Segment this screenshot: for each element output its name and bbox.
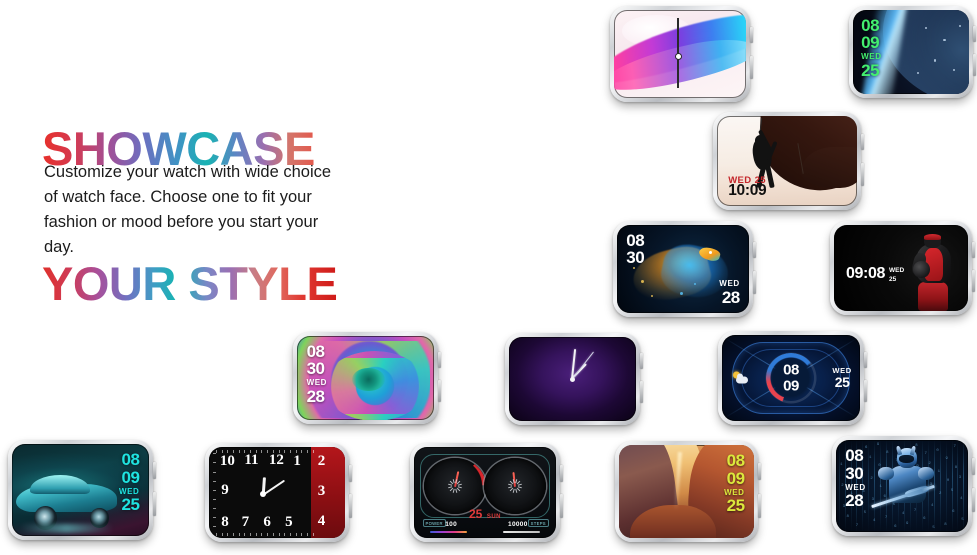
watch-dual-gauge[interactable]: 25 SUN POWER STEPS 100 10000 [410, 443, 560, 542]
star [917, 72, 919, 74]
digital-rain-glyph: 1 [869, 456, 871, 460]
minute-tick [222, 533, 223, 536]
digital-rain-column [963, 440, 964, 532]
minute-tick [279, 533, 280, 536]
side-button-top[interactable] [349, 465, 352, 482]
warrior-shoulder [878, 467, 894, 480]
minutes-value: 30 [845, 465, 865, 482]
minutes-value: 30 [626, 249, 644, 266]
clock-numeral: 8 [221, 514, 229, 531]
digital-rain-column [839, 440, 840, 532]
date-value: 25 [861, 62, 881, 79]
minute-tick [256, 533, 257, 536]
time-date-complication: 08 09 WED 25 [119, 451, 139, 513]
time-date-complication: 09:08 WED 25 [846, 265, 904, 283]
date-value: 25 [724, 497, 744, 514]
digital-rain-glyph: 5 [893, 503, 895, 507]
watch-blue-tech-hud[interactable]: 08 09 WED 25 [718, 331, 864, 425]
hours-value: 08 [724, 452, 744, 469]
hours-value: 08 [783, 362, 799, 378]
red-side-panel [311, 447, 345, 538]
minute-tick [284, 533, 285, 536]
watch-case: 08 30 WED 28 [293, 332, 438, 424]
clock-center-dot [570, 377, 575, 382]
warrior-shoulder [918, 467, 934, 480]
clock-numeral: 10 [220, 453, 235, 470]
side-button-bottom[interactable] [560, 494, 563, 518]
rose-core [352, 368, 385, 392]
clock-numeral-red: 3 [318, 483, 326, 500]
side-button-bottom[interactable] [153, 492, 156, 516]
digital-rain-column [886, 440, 887, 532]
digital-rain-glyph: 6 [894, 525, 896, 529]
watch-screen: 7418529630741852963074185296307418529630… [836, 440, 968, 532]
watch-screen: 09:08 WED 25 [834, 225, 968, 311]
watch-antelope-canyon[interactable]: 08 09 WED 25 [615, 441, 758, 542]
watch-screen: WED 25 10:09 [717, 116, 857, 206]
watch-screen: 08 09 WED 25 [722, 335, 860, 421]
minute-tick [213, 462, 216, 463]
minute-tick [227, 450, 228, 453]
clock-numeral: 7 [242, 514, 250, 531]
date-value: 28 [845, 492, 865, 509]
minute-tick [244, 450, 245, 453]
promo-canvas: SHOWCASE YOUR STYLE Customize your watch… [0, 0, 977, 555]
minute-tick [222, 450, 223, 453]
digital-rain-glyph: 0 [947, 479, 949, 483]
side-button-top[interactable] [861, 134, 864, 151]
minutes-value: 09 [783, 378, 799, 394]
digital-rain-glyph: 0 [936, 449, 938, 453]
watch-boxer-athlete[interactable]: 09:08 WED 25 [830, 221, 972, 315]
clock-numeral: 12 [269, 452, 284, 469]
side-button-top[interactable] [438, 352, 441, 368]
hours-value: 08 [626, 232, 644, 249]
date-complication: WED 25 [832, 365, 851, 391]
date-complication: WED 28 [719, 278, 739, 305]
watch-earth-space[interactable]: 08 09 WED 25 [849, 6, 973, 98]
watch-case [610, 6, 750, 102]
minute-tick [213, 517, 216, 518]
clock-numeral-red: 2 [318, 453, 326, 470]
car-reflection [20, 524, 113, 533]
side-button-bottom[interactable] [972, 488, 975, 512]
side-button-bottom[interactable] [753, 271, 756, 294]
day-value: WED [889, 267, 904, 275]
watch-screen: 08 09 WED 25 [12, 444, 149, 536]
side-button-top[interactable] [972, 242, 975, 258]
side-button-bottom[interactable] [349, 494, 352, 518]
watch-matrix-warrior[interactable]: 7418529630741852963074185296307418529630… [832, 436, 972, 536]
athlete-legs [918, 282, 947, 311]
time-value: 10:09 [728, 182, 766, 200]
hours-value: 08 [845, 447, 865, 464]
digital-rain-glyph: 1 [840, 463, 842, 467]
minutes-value: 09 [724, 470, 744, 487]
date-value: 25 [832, 375, 851, 390]
digital-rain-glyph: 8 [847, 515, 849, 519]
watch-case: 08 09 WED 25 [8, 440, 153, 540]
hours-value: 08 [307, 343, 327, 360]
watch-rainbow-rose[interactable]: 08 30 WED 28 [293, 332, 438, 424]
minute-tick [213, 453, 216, 454]
digital-rain-column [880, 440, 881, 532]
side-button-bottom[interactable] [973, 54, 976, 76]
clock-numeral: 6 [263, 514, 271, 531]
right-value: 10000 [508, 521, 528, 528]
minute-tick [244, 533, 245, 536]
side-button-top[interactable] [864, 352, 867, 368]
clock-tick [572, 379, 574, 421]
time-date-complication: 08 30 WED 28 [307, 343, 327, 405]
watch-screen: 101112198765234 [209, 447, 345, 538]
minute-tick [261, 450, 262, 453]
headline-line-2: YOUR STYLE [42, 261, 337, 306]
date-value: 25 [889, 276, 904, 284]
minute-tick [301, 450, 302, 453]
time-date-complication: 08 30 WED 28 [845, 447, 865, 509]
watch-eagle-splash[interactable]: 08 30 WED 28 [613, 221, 753, 317]
digital-rain-glyph: 2 [870, 477, 872, 481]
minute-tick [273, 533, 274, 536]
digital-rain-column [940, 440, 941, 532]
side-button-top[interactable] [972, 458, 975, 475]
digital-rain-column [868, 440, 869, 532]
right-progress-bar [503, 531, 540, 533]
clock-numeral: 9 [221, 482, 229, 499]
athlete-helmet [924, 234, 941, 240]
minute-tick [227, 533, 228, 536]
digital-rain-glyph: 3 [959, 476, 961, 480]
side-button-bottom[interactable] [640, 381, 643, 403]
left-tag-label: POWER [423, 519, 446, 527]
watch-case: 08 30 WED 28 [613, 221, 753, 317]
promo-description: Customize your watch with wide choice of… [44, 160, 344, 260]
digital-rain-glyph: 2 [841, 484, 843, 488]
minute-tick [301, 533, 302, 536]
clock-numeral: 5 [285, 514, 293, 531]
time-date-complication: 08 09 WED 25 [861, 17, 881, 79]
watch-screen: 25 SUN POWER STEPS 100 10000 [414, 447, 556, 538]
side-button-bottom[interactable] [972, 270, 975, 293]
digital-rain-glyph: 4 [960, 497, 962, 501]
date-value: 28 [307, 388, 327, 405]
side-button-top[interactable] [560, 465, 563, 482]
digital-rain-column [946, 440, 947, 532]
minute-tick [261, 533, 262, 536]
watch-rock-climber[interactable]: WED 25 10:09 [713, 112, 861, 210]
hours-value: 08 [861, 17, 881, 34]
digital-rain-glyph: 7 [924, 452, 926, 456]
minute-tick [233, 533, 234, 536]
minute-tick [213, 499, 216, 500]
minute-tick [313, 450, 314, 453]
minute-tick [313, 533, 314, 536]
hours-value: 08 [119, 451, 139, 468]
minute-tick [284, 450, 285, 453]
watch-abstract-waves[interactable] [610, 6, 750, 102]
right-tag-label: STEPS [528, 519, 549, 527]
side-button-bottom[interactable] [750, 56, 753, 79]
date-value: 28 [719, 289, 739, 306]
clock-center-dot [260, 491, 266, 497]
minutes-value: 09 [861, 34, 881, 51]
minute-tick [213, 490, 216, 491]
digital-rain-glyph: 9 [906, 522, 908, 526]
watch-screen [509, 337, 636, 421]
digital-rain-glyph: 6 [923, 517, 925, 521]
digital-rain-glyph: 5 [864, 511, 866, 515]
side-button-top[interactable] [640, 353, 643, 369]
day-value: SUN [487, 514, 501, 520]
minutes-value: 09 [119, 469, 139, 486]
minute-tick [250, 533, 251, 536]
minute-tick [296, 533, 297, 536]
minute-tick [296, 450, 297, 453]
minute-tick [216, 450, 217, 453]
clock-numeral-red: 4 [318, 513, 326, 530]
watch-screen [614, 10, 746, 98]
clock-numeral: 1 [293, 453, 301, 470]
time-complication: 08 30 [626, 232, 644, 267]
time-value: 09:08 [846, 265, 885, 283]
warrior-visor [899, 455, 914, 463]
digital-rain-glyph: 2 [928, 462, 930, 466]
side-button-top[interactable] [153, 462, 156, 479]
watch-case: WED 25 10:09 [713, 112, 861, 210]
left-value: 100 [445, 521, 457, 528]
digital-rain-glyph: 6 [952, 510, 954, 514]
minute-tick [267, 533, 268, 536]
minute-tick [256, 450, 257, 453]
watch-case [505, 333, 640, 425]
digital-rain-column [957, 440, 958, 532]
clock-numeral: 11 [244, 452, 258, 469]
watch-case: 08 09 WED 25 [849, 6, 973, 98]
minute-tick [273, 450, 274, 453]
minute-tick [213, 481, 216, 482]
watch-case: 08 09 WED 25 [615, 441, 758, 542]
minute-tick [279, 450, 280, 453]
watch-sports-car[interactable]: 08 09 WED 25 [8, 440, 153, 540]
side-button-top[interactable] [973, 26, 976, 42]
star [959, 25, 961, 27]
side-button-top[interactable] [750, 27, 753, 43]
digital-rain-glyph: 7 [953, 445, 955, 449]
watch-screen: 08 09 WED 25 [853, 10, 969, 94]
date-complication: 25 SUN [469, 506, 501, 522]
digital-rain-column [874, 440, 875, 532]
side-button-bottom[interactable] [438, 380, 441, 402]
minute-tick [213, 508, 216, 509]
watch-purple-analog[interactable] [505, 333, 640, 425]
watch-screen: 08 09 WED 25 [619, 445, 754, 538]
side-button-top[interactable] [758, 463, 761, 480]
watch-case: 09:08 WED 25 [830, 221, 972, 315]
date-value: 25 [119, 496, 139, 513]
minute-tick [290, 533, 291, 536]
splash-particle [694, 283, 696, 285]
minute-tick [250, 450, 251, 453]
minute-tick [239, 450, 240, 453]
watch-case: 08 09 WED 25 [718, 331, 864, 425]
digital-rain-glyph: 9 [877, 443, 879, 447]
minute-tick [307, 533, 308, 536]
minute-tick [213, 526, 216, 527]
minute-hand [263, 480, 286, 496]
time-date-complication: 08 09 WED 25 [724, 452, 744, 514]
side-button-bottom[interactable] [758, 494, 761, 518]
watch-screen: 08 30 WED 28 [297, 336, 434, 420]
left-progress-bar [430, 531, 467, 533]
date-value: 25 [469, 507, 482, 521]
date-stack: WED 25 [889, 265, 904, 283]
side-button-top[interactable] [753, 242, 756, 258]
time-complication: 08 09 [783, 362, 799, 393]
minute-tick [290, 450, 291, 453]
watch-numeral-clock[interactable]: 101112198765234 [205, 443, 349, 542]
star [953, 69, 955, 71]
minute-tick [216, 533, 217, 536]
minute-tick [233, 450, 234, 453]
minute-tick [307, 450, 308, 453]
minute-tick [239, 533, 240, 536]
watch-screen: 08 30 WED 28 [617, 225, 749, 313]
minute-tick [267, 450, 268, 453]
watch-case: 25 SUN POWER STEPS 100 10000 [410, 443, 560, 542]
sun-behind-cloud-icon [733, 372, 749, 385]
side-button-bottom[interactable] [864, 380, 867, 403]
digital-rain-column [952, 440, 953, 532]
minute-tick [213, 472, 216, 473]
star [925, 27, 927, 29]
cloud-part [736, 377, 748, 384]
watch-case: 7418529630741852963074185296307418529630… [832, 436, 972, 536]
minutes-value: 30 [307, 360, 327, 377]
watch-case: 101112198765234 [205, 443, 349, 542]
splash-particle [641, 280, 644, 283]
splash-particle [633, 267, 635, 269]
side-button-bottom[interactable] [861, 163, 864, 187]
